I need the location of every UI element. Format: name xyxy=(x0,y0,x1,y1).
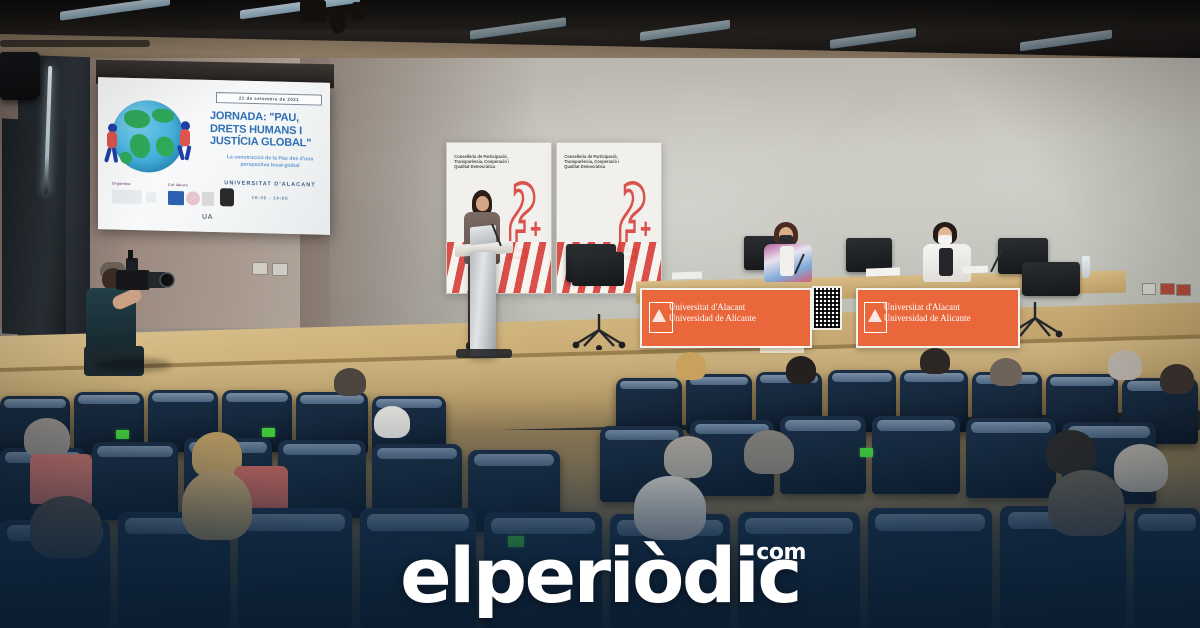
auditorium-seat[interactable] xyxy=(738,512,860,628)
audience-hair xyxy=(990,358,1022,386)
seat-distancing-marker xyxy=(860,448,873,457)
table-banner-text: Universitat d'Alacant Universidad de Ali… xyxy=(884,302,971,324)
stage-light-rig xyxy=(352,2,364,20)
audience-hair xyxy=(1046,430,1096,474)
slide-collaborator-label: Col·labora xyxy=(168,183,188,187)
ceiling-void xyxy=(0,0,1200,30)
audience-member xyxy=(916,348,956,388)
audience-member xyxy=(1156,364,1200,408)
audience-hair xyxy=(786,356,816,384)
table-banner-line1: Universitat d'Alacant xyxy=(884,302,960,312)
audience-hair xyxy=(334,368,366,396)
audience-hair xyxy=(1048,470,1124,536)
podium xyxy=(470,252,496,356)
panel-chair xyxy=(846,238,892,272)
seat-distancing-marker xyxy=(262,428,275,437)
auditorium-seat[interactable] xyxy=(1134,508,1200,628)
audience-member xyxy=(26,496,112,582)
audience-hair xyxy=(1108,350,1142,380)
wall-socket xyxy=(272,263,288,276)
face-mask xyxy=(779,235,793,244)
table-banner-line2: Universidad de Alicante xyxy=(884,313,971,323)
tripod-shadow xyxy=(96,358,172,372)
stage-light-rig xyxy=(300,0,326,22)
figure-torso xyxy=(180,129,190,146)
slide-subtitle: La construcció de la Pau des d'una persp… xyxy=(216,154,324,170)
seat-distancing-marker xyxy=(508,536,524,547)
table-banner-ua-1: Universitat d'Alacant Universidad de Ali… xyxy=(640,288,812,348)
audience-member xyxy=(782,356,822,396)
slide-date: 21 de setembre de 2021 xyxy=(216,92,322,106)
table-banner-text: Universitat d'Alacant Universidad de Ali… xyxy=(669,302,756,324)
ua-logo-mark: UA xyxy=(202,214,213,221)
audience-hair xyxy=(182,470,252,540)
table-papers xyxy=(672,271,702,279)
video-camera-icon xyxy=(112,250,178,304)
stage-light-rig xyxy=(330,8,346,34)
collaborator-logo xyxy=(168,191,184,205)
panelist-inner-top xyxy=(939,248,953,276)
figure-torso xyxy=(107,131,117,148)
organiser-logo xyxy=(146,192,156,202)
audience-member xyxy=(630,476,716,566)
panel-chair xyxy=(1022,262,1080,296)
auditorium-seat[interactable] xyxy=(278,440,366,518)
audience-member xyxy=(330,368,372,410)
continent-shape xyxy=(124,110,150,129)
continent-shape xyxy=(130,134,150,158)
chair-wheel-base-icon xyxy=(570,312,628,350)
presentation-slide: 21 de setembre de 2021 JORNADA: "PAU, DR… xyxy=(98,77,330,235)
news-photo: 21 de setembre de 2021 JORNADA: "PAU, DR… xyxy=(0,0,1200,628)
audience-hair xyxy=(744,430,794,474)
audience-member xyxy=(986,358,1028,400)
table-papers xyxy=(866,267,900,276)
projection-screen: 21 de setembre de 2021 JORNADA: "PAU, DR… xyxy=(98,77,330,235)
panelist-right xyxy=(920,222,974,284)
figure-leg xyxy=(184,145,191,161)
audience-member xyxy=(30,440,94,500)
collaborator-logo xyxy=(220,188,234,206)
audience-member xyxy=(740,430,802,492)
audience-member xyxy=(1044,470,1134,564)
qr-code xyxy=(812,286,842,330)
audience-hair xyxy=(30,496,102,558)
collaborator-logo xyxy=(202,192,214,206)
auditorium-seat[interactable] xyxy=(868,508,992,628)
auditorium-seat[interactable] xyxy=(360,508,476,628)
audience-member xyxy=(178,470,262,560)
continent-shape xyxy=(152,108,174,123)
speaker-head xyxy=(476,196,489,211)
left-door-panel xyxy=(2,118,66,336)
continent-shape xyxy=(156,137,174,157)
organiser-logo xyxy=(112,190,142,205)
slide-title: JORNADA: "PAU, DRETS HUMANS I JUSTÍCIA G… xyxy=(210,110,326,150)
panelist-shirt xyxy=(780,246,794,276)
banner-text: Conselleria de Participació, Transparènc… xyxy=(454,154,518,170)
cable-tray xyxy=(0,40,150,47)
wall-socket xyxy=(252,262,268,275)
auditorium-seat[interactable] xyxy=(872,416,960,494)
audience-hair xyxy=(1160,364,1194,394)
table-banner-line2: Universidad de Alicante xyxy=(669,313,756,323)
collaborator-logo xyxy=(186,191,200,205)
pa-speaker xyxy=(0,52,40,100)
panelist-left xyxy=(760,222,816,284)
audience-member xyxy=(672,352,712,392)
continent-shape xyxy=(120,152,132,164)
ua-small-credit xyxy=(760,346,804,353)
seat-distancing-marker xyxy=(116,430,129,439)
monitor xyxy=(572,252,624,286)
banner-text: Conselleria de Participació, Transparènc… xyxy=(564,154,628,170)
figure-leg xyxy=(104,147,112,163)
auditorium-seat[interactable] xyxy=(484,512,602,628)
audience-hair xyxy=(634,476,706,540)
wall-socket xyxy=(1176,284,1191,296)
audience-hair xyxy=(374,406,410,438)
table-papers xyxy=(962,266,988,274)
audience-hair xyxy=(676,352,706,380)
table-banner-line1: Universitat d'Alacant xyxy=(669,302,745,312)
globe-illustration xyxy=(112,100,184,174)
podium-base xyxy=(456,349,512,358)
audience-hair xyxy=(664,436,712,478)
slide-organiser-label: Organitza xyxy=(112,182,130,186)
wall-socket xyxy=(1142,283,1156,295)
wall-socket xyxy=(1160,283,1175,295)
table-banner-ua-2: Universitat d'Alacant Universidad de Ali… xyxy=(856,288,1020,348)
audience-hair xyxy=(920,348,950,374)
face-mask xyxy=(938,235,952,244)
audience-member xyxy=(1104,350,1148,394)
water-bottle xyxy=(1082,256,1090,278)
